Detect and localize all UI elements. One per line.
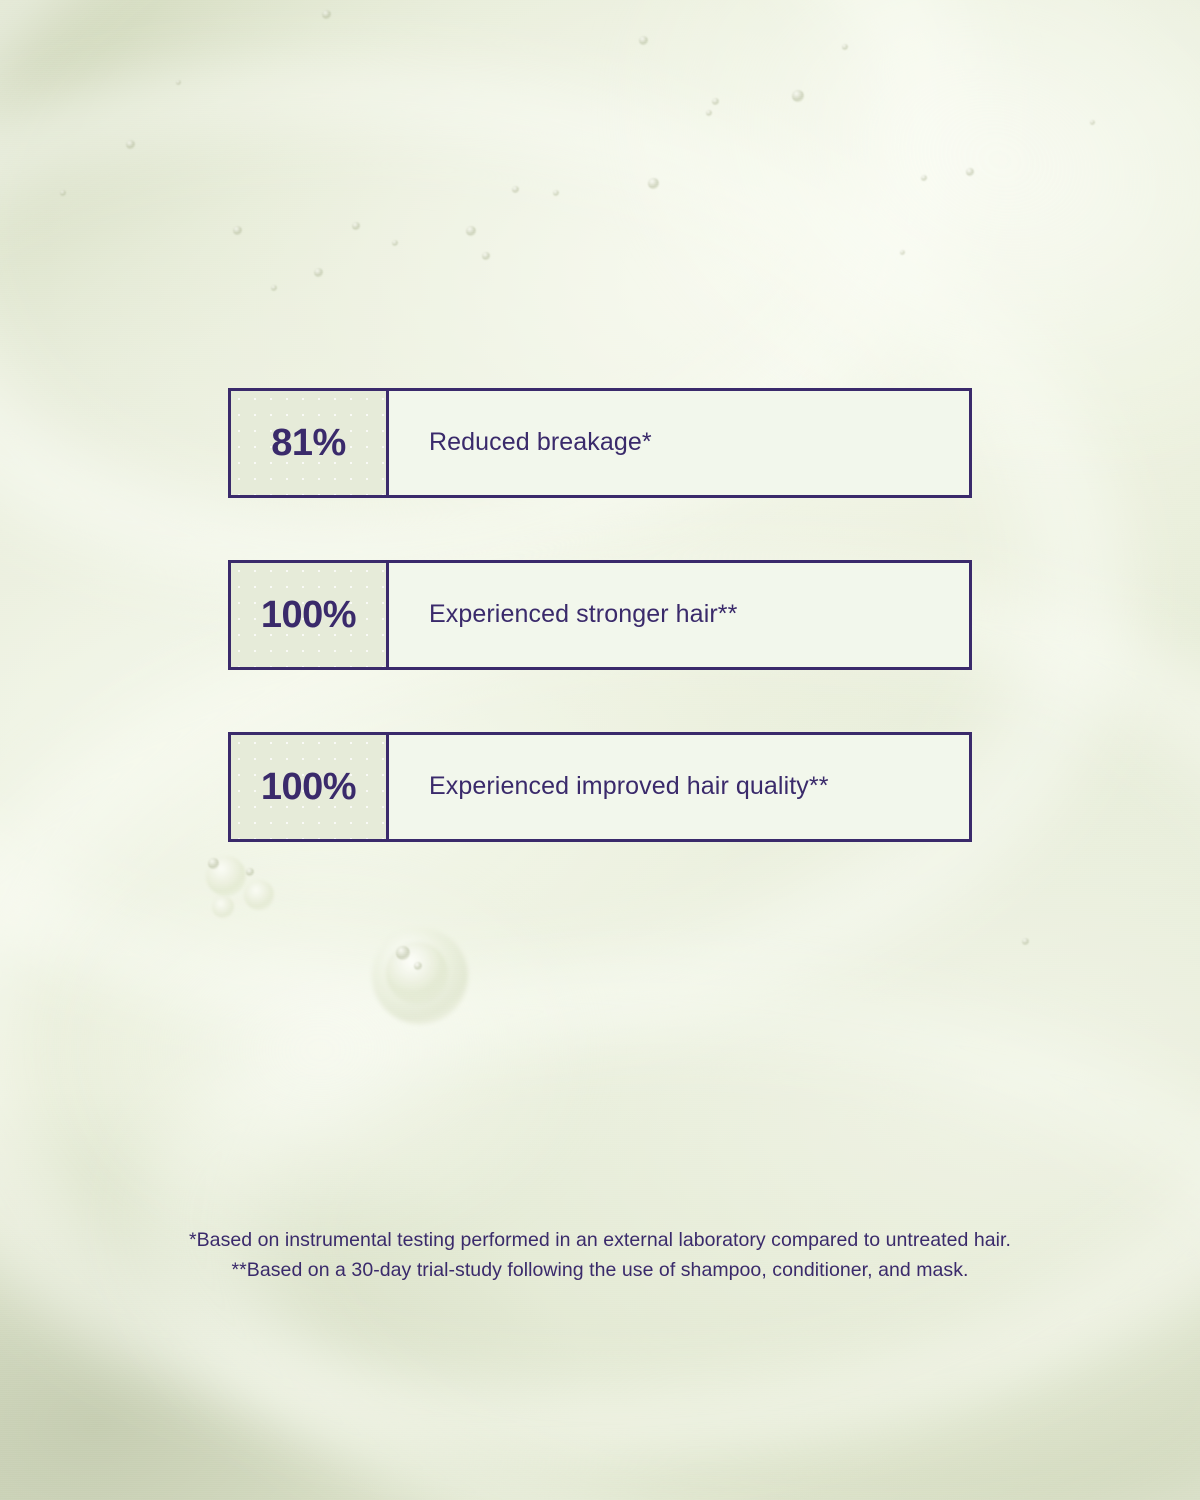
stat-label-text: Experienced improved hair quality** xyxy=(429,771,829,802)
stat-label-cell: Reduced breakage* xyxy=(389,391,969,495)
stats-list: 81% Reduced breakage* 100% Experienced s… xyxy=(228,388,972,842)
footnote-line-1: *Based on instrumental testing performed… xyxy=(0,1226,1200,1256)
stat-percent-cell: 100% xyxy=(231,563,389,667)
stat-card: 100% Experienced stronger hair** xyxy=(228,560,972,670)
stat-card: 81% Reduced breakage* xyxy=(228,388,972,498)
stat-label-text: Experienced stronger hair** xyxy=(429,599,737,630)
stat-card: 100% Experienced improved hair quality** xyxy=(228,732,972,842)
footnotes: *Based on instrumental testing performed… xyxy=(0,1226,1200,1285)
stat-label-cell: Experienced stronger hair** xyxy=(389,563,969,667)
stat-percent-cell: 81% xyxy=(231,391,389,495)
promo-content: 81% Reduced breakage* 100% Experienced s… xyxy=(0,0,1200,1500)
stat-percent-cell: 100% xyxy=(231,735,389,839)
footnote-line-2: **Based on a 30-day trial-study followin… xyxy=(0,1256,1200,1286)
stat-percent-value: 81% xyxy=(271,424,346,462)
stat-percent-value: 100% xyxy=(261,596,356,634)
stat-percent-value: 100% xyxy=(261,768,356,806)
stat-label-cell: Experienced improved hair quality** xyxy=(389,735,969,839)
stat-label-text: Reduced breakage* xyxy=(429,427,652,458)
